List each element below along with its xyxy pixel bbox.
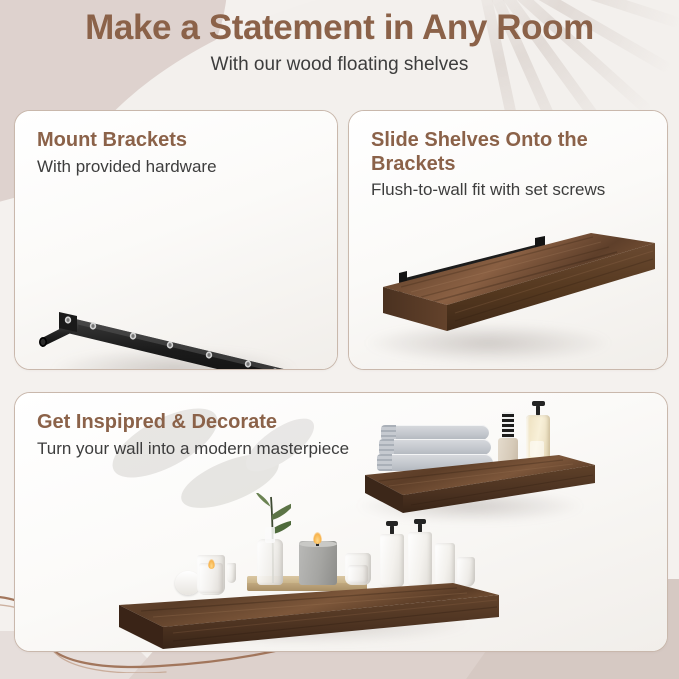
card-slide-shelves: Slide Shelves Onto the Brackets Flush-to… [348,110,668,370]
soap-dispenser-tall-right [407,519,433,587]
card-heading: Slide Shelves Onto the Brackets [371,129,636,176]
card-subtext: Turn your wall into a modern masterpiece [37,438,367,459]
infographic-page: Make a Statement in Any Room With our wo… [0,0,679,679]
card-subtext: Flush-to-wall fit with set screws [371,179,636,200]
wood-shelf-with-bracket-icon [355,221,665,351]
card-subtext: With provided hardware [37,156,217,177]
card-text-get-inspired: Get Inspipred & Decorate Turn your wall … [37,411,367,459]
card-text-slide-shelves: Slide Shelves Onto the Brackets Flush-to… [371,129,636,201]
lower-shelf-plank [101,579,501,651]
card-get-inspired: Get Inspipred & Decorate Turn your wall … [14,392,668,652]
card-heading: Get Inspipred & Decorate [37,411,367,435]
card-mount-brackets: Mount Brackets With provided hardware [14,110,338,370]
header: Make a Statement in Any Room With our wo… [0,8,679,76]
page-title: Make a Statement in Any Room [0,8,679,47]
card-heading: Mount Brackets [37,129,217,153]
upper-shelf-plank [345,451,597,515]
gray-pillar-candle [299,537,337,585]
soap-dispenser-tall-left [379,521,405,587]
glass-vase-with-plant [251,493,291,585]
card-text-mount-brackets: Mount Brackets With provided hardware [37,129,217,177]
shelf-bracket-icon [37,306,327,370]
page-subtitle: With our wood floating shelves [0,54,679,76]
